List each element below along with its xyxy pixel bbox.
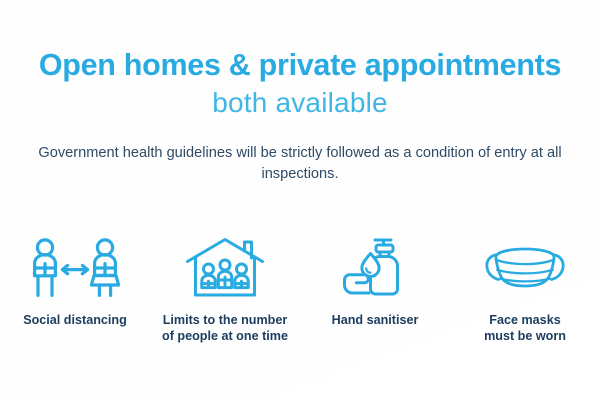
guideline-item-hand-sanitiser: Hand sanitiser <box>300 237 450 329</box>
guideline-item-face-mask: Face masks must be worn <box>450 237 600 344</box>
social-distancing-icon <box>21 237 129 299</box>
headline-block: Open homes & private appointments both a… <box>0 0 600 119</box>
hand-sanitiser-icon <box>342 237 408 299</box>
page-title: Open homes & private appointments <box>0 49 600 82</box>
guideline-caption: Face masks must be worn <box>484 313 566 344</box>
guideline-item-occupancy-limit: Limits to the number of people at one ti… <box>150 237 300 344</box>
house-occupancy-limit-icon <box>184 237 266 299</box>
body-paragraph: Government health guidelines will be str… <box>30 143 570 185</box>
guideline-caption: Social distancing <box>23 313 127 329</box>
guideline-caption: Hand sanitiser <box>332 313 419 329</box>
page-subtitle: both available <box>0 88 600 119</box>
face-mask-icon <box>482 237 568 299</box>
guidelines-row: Social distancing <box>0 237 600 344</box>
covid-safety-banner: Open homes & private appointments both a… <box>0 0 600 400</box>
guideline-caption: Limits to the number of people at one ti… <box>162 313 288 344</box>
guideline-item-social-distancing: Social distancing <box>0 237 150 329</box>
